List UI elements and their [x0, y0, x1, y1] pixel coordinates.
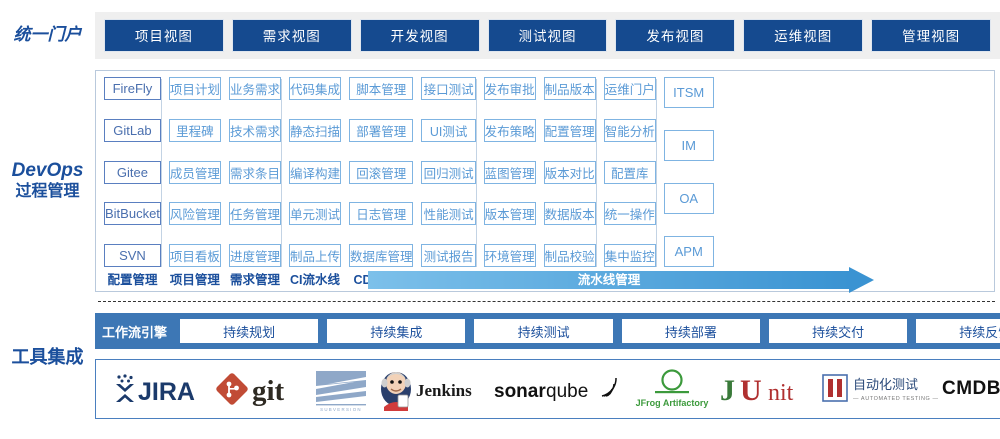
tool-integration-row: 工具集成 工作流引擎 持续规划 持续集成 持续测试 持续部署 持续交付 持续反馈: [0, 313, 1000, 439]
workflow-engine-label: 工作流引擎: [102, 322, 171, 341]
capability-cell[interactable]: UI测试: [421, 119, 475, 142]
tool-logo-strip: JIRA git: [95, 359, 1000, 419]
workflow-stage-button[interactable]: 持续测试: [474, 319, 612, 343]
svg-text:U: U: [740, 374, 762, 407]
pipeline-arrow: 流水线管理: [368, 270, 874, 290]
jenkins-logo: Jenkins: [376, 365, 494, 413]
svg-text:SUBVERSION: SUBVERSION: [320, 407, 362, 412]
devops-process-label: DevOps 过程管理: [0, 70, 95, 292]
capability-cell[interactable]: 环境管理: [484, 244, 536, 267]
capability-column-integration: ITSM IM OA APM 集成管理: [660, 77, 718, 289]
portal-view-button[interactable]: 开发视图: [360, 19, 480, 52]
capability-cell[interactable]: 业务需求: [229, 77, 281, 100]
svg-text:J: J: [720, 374, 735, 407]
svg-text:— AUTOMATED TESTING —: — AUTOMATED TESTING —: [853, 396, 939, 402]
capability-column-scm: FireFly GitLab Gitee BitBucket SVN 配置管理: [100, 77, 165, 289]
capability-cell-list: 运维门户 智能分析 配置库 统一操作 集中监控: [604, 77, 656, 267]
unified-portal-label: 统一门户: [0, 25, 95, 45]
svg-text:自动化测试: 自动化测试: [853, 377, 918, 392]
capability-cell[interactable]: 发布策略: [484, 119, 536, 142]
capability-cell[interactable]: 版本对比: [544, 161, 596, 184]
capability-cell[interactable]: 进度管理: [229, 244, 281, 267]
tool-integration-body: 工作流引擎 持续规划 持续集成 持续测试 持续部署 持续交付 持续反馈: [95, 313, 1000, 419]
capability-cell[interactable]: ITSM: [664, 77, 714, 108]
capability-cell-list: 制品版本 配置管理 版本对比 数据版本 制品校验: [544, 77, 596, 267]
capability-cell[interactable]: 数据版本: [544, 202, 596, 225]
capability-cell[interactable]: 项目计划: [169, 77, 221, 100]
capability-cell[interactable]: OA: [664, 183, 714, 214]
capability-column-release: 发布审批 发布策略 蓝图管理 版本管理 环境管理 发布管理: [480, 77, 540, 289]
capability-column-ct: 接口测试 UI测试 回归测试 性能测试 测试报告 CT流水线: [417, 77, 479, 289]
capability-cell[interactable]: 任务管理: [229, 202, 281, 225]
capability-cell[interactable]: SVN: [104, 244, 161, 267]
capability-cell[interactable]: 配置管理: [544, 119, 596, 142]
svg-text:JFrog Artifactory: JFrog Artifactory: [636, 398, 709, 408]
capability-cell[interactable]: 里程碑: [169, 119, 221, 142]
portal-view-button[interactable]: 运维视图: [743, 19, 863, 52]
git-logo: git: [216, 365, 308, 413]
capability-cell[interactable]: 制品校验: [544, 244, 596, 267]
svg-text:sonar: sonar: [494, 381, 546, 402]
capability-cell[interactable]: 版本管理: [484, 202, 536, 225]
capability-cell[interactable]: BitBucket: [104, 202, 161, 225]
svg-text:git: git: [252, 375, 285, 407]
capability-cell[interactable]: 单元测试: [289, 202, 341, 225]
automated-testing-logo: 自动化测试 — AUTOMATED TESTING —: [820, 365, 942, 413]
capability-column-footer: 配置管理: [107, 267, 157, 289]
capability-cell-list: 接口测试 UI测试 回归测试 性能测试 测试报告: [421, 77, 475, 267]
capability-group: 代码集成 静态扫描 编译构建 单元测试 制品上传 CI流水线 脚本管理 部署管理…: [285, 77, 480, 289]
subversion-logo: SUBVERSION: [308, 365, 376, 413]
capability-cell[interactable]: 静态扫描: [289, 119, 341, 142]
capability-cell[interactable]: 制品版本: [544, 77, 596, 100]
junit-logo: J U nit: [720, 365, 820, 413]
capability-cell-list: 脚本管理 部署管理 回滚管理 日志管理 数据库管理: [349, 77, 414, 267]
sonarqube-logo: sonar qube: [494, 365, 624, 413]
devops-label-en: DevOps: [12, 160, 84, 182]
capability-column-project: 项目计划 里程碑 成员管理 风险管理 项目看板 项目管理: [165, 77, 225, 289]
capability-cell-list: 代码集成 静态扫描 编译构建 单元测试 制品上传: [289, 77, 341, 267]
capability-cell[interactable]: GitLab: [104, 119, 161, 142]
capability-cell[interactable]: 性能测试: [421, 202, 475, 225]
capability-group: 运维门户 智能分析 配置库 统一操作 集中监控 运维管理: [600, 77, 660, 289]
capability-column-footer: 项目管理: [170, 267, 220, 289]
capability-cell[interactable]: 统一操作: [604, 202, 656, 225]
cmdb-logo: CMDB: [942, 365, 1000, 413]
capability-cell[interactable]: 脚本管理: [349, 77, 414, 100]
capability-cell[interactable]: APM: [664, 236, 714, 267]
capability-column-ops: 运维门户 智能分析 配置库 统一操作 集中监控 运维管理: [600, 77, 660, 289]
capability-cell-list: 业务需求 技术需求 需求条目 任务管理 进度管理: [229, 77, 281, 267]
workflow-stage-button[interactable]: 持续部署: [622, 319, 760, 343]
portal-view-button[interactable]: 项目视图: [104, 19, 224, 52]
capability-cell-list: 发布审批 发布策略 蓝图管理 版本管理 环境管理: [484, 77, 536, 267]
workflow-stage-button[interactable]: 持续反馈: [916, 319, 1000, 343]
capability-cell-list: 项目计划 里程碑 成员管理 风险管理 项目看板: [169, 77, 221, 267]
svg-text:qube: qube: [546, 381, 588, 402]
capability-cell[interactable]: 接口测试: [421, 77, 475, 100]
capability-cell[interactable]: IM: [664, 130, 714, 161]
capability-column-requirement: 业务需求 技术需求 需求条目 任务管理 进度管理 需求管理: [225, 77, 285, 289]
capability-cell[interactable]: 回归测试: [421, 161, 475, 184]
workflow-stage-button[interactable]: 持续规划: [180, 319, 318, 343]
capability-cell[interactable]: 需求条目: [229, 161, 281, 184]
tool-integration-label: 工具集成: [0, 313, 95, 368]
portal-view-button[interactable]: 发布视图: [615, 19, 735, 52]
capability-column-footer: CI流水线: [290, 267, 340, 289]
capability-column-cd: 脚本管理 部署管理 回滚管理 日志管理 数据库管理 CD流水线: [345, 77, 418, 289]
capability-cell[interactable]: 日志管理: [349, 202, 414, 225]
capability-cell[interactable]: 集中监控: [604, 244, 656, 267]
capability-cell[interactable]: 风险管理: [169, 202, 221, 225]
devops-label-cn: 过程管理: [15, 183, 79, 201]
capability-cell[interactable]: 成员管理: [169, 161, 221, 184]
capability-group: ITSM IM OA APM 集成管理: [660, 77, 718, 289]
capability-cell[interactable]: 代码集成: [289, 77, 341, 100]
workflow-stage-button[interactable]: 持续交付: [769, 319, 907, 343]
capability-cell[interactable]: 配置库: [604, 161, 656, 184]
cmdb-logo-text: CMDB: [942, 378, 1000, 400]
capability-cell[interactable]: 智能分析: [604, 119, 656, 142]
capability-cell[interactable]: 测试报告: [421, 244, 475, 267]
workflow-engine-bar: 工作流引擎 持续规划 持续集成 持续测试 持续部署 持续交付 持续反馈: [95, 313, 1000, 349]
portal-view-button[interactable]: 需求视图: [232, 19, 352, 52]
capability-cell[interactable]: 制品上传: [289, 244, 341, 267]
section-divider: [98, 301, 995, 302]
capability-cell[interactable]: 发布审批: [484, 77, 536, 100]
capability-column-footer: 需求管理: [230, 267, 280, 289]
capability-cell[interactable]: 运维门户: [604, 77, 656, 100]
capability-cell[interactable]: 数据库管理: [349, 244, 414, 267]
capability-cell-list: FireFly GitLab Gitee BitBucket SVN: [104, 77, 161, 267]
capability-cell[interactable]: 蓝图管理: [484, 161, 536, 184]
jira-logo: JIRA: [108, 365, 216, 413]
capability-cell-list: ITSM IM OA APM: [664, 77, 714, 267]
capability-cell[interactable]: 部署管理: [349, 119, 414, 142]
capability-cell[interactable]: 技术需求: [229, 119, 281, 142]
devops-capability-grid: FireFly GitLab Gitee BitBucket SVN 配置管理 …: [95, 70, 995, 292]
pipeline-arrow-label: 流水线管理: [368, 272, 850, 288]
capability-cell[interactable]: Gitee: [104, 161, 161, 184]
capability-group: 发布审批 发布策略 蓝图管理 版本管理 环境管理 发布管理 制品版本 配置管理 …: [480, 77, 600, 289]
svg-text:Jenkins: Jenkins: [416, 381, 472, 400]
pipeline-arrow-head-icon: [849, 267, 874, 293]
capability-group: FireFly GitLab Gitee BitBucket SVN 配置管理: [100, 77, 165, 289]
capability-cell[interactable]: 编译构建: [289, 161, 341, 184]
capability-column-ci: 代码集成 静态扫描 编译构建 单元测试 制品上传 CI流水线: [285, 77, 345, 289]
portal-view-strip: 项目视图 需求视图 开发视图 测试视图 发布视图 运维视图 管理视图: [95, 12, 1000, 59]
unified-portal-row: 统一门户 项目视图 需求视图 开发视图 测试视图 发布视图 运维视图 管理视图: [0, 0, 1000, 70]
capability-cell[interactable]: 项目看板: [169, 244, 221, 267]
svg-text:JIRA: JIRA: [138, 378, 195, 406]
portal-view-button[interactable]: 管理视图: [871, 19, 991, 52]
capability-column-artifact: 制品版本 配置管理 版本对比 数据版本 制品校验 制品管理: [540, 77, 600, 289]
capability-group: 项目计划 里程碑 成员管理 风险管理 项目看板 项目管理 业务需求 技术需求 需…: [165, 77, 285, 289]
capability-cell[interactable]: FireFly: [104, 77, 161, 100]
svg-text:nit: nit: [768, 380, 794, 406]
capability-cell[interactable]: 回滚管理: [349, 161, 414, 184]
devops-process-row: DevOps 过程管理 FireFly GitLab Gitee BitBuck…: [0, 70, 1000, 292]
jfrog-artifactory-logo: JFrog Artifactory: [624, 365, 720, 413]
portal-view-button[interactable]: 测试视图: [488, 19, 608, 52]
workflow-stage-button[interactable]: 持续集成: [327, 319, 465, 343]
